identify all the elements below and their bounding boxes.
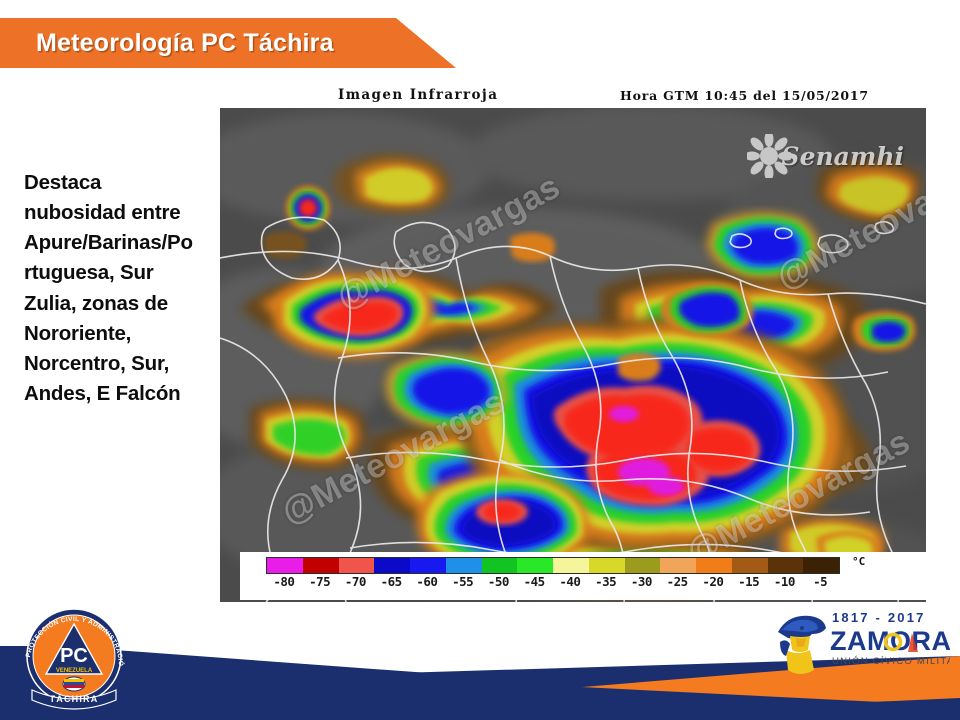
colorbar-segment: [660, 558, 696, 573]
svg-text:PC: PC: [60, 645, 88, 667]
colorbar-segment: [446, 558, 482, 573]
zamora-tagline: UNIÓN CÍVICO MILITAR: [832, 656, 950, 667]
colorbar-tick: -10: [774, 574, 795, 589]
colorbar-tick: -65: [381, 574, 402, 589]
colorbar-tick: -50: [488, 574, 509, 589]
colorbar-segment: [732, 558, 768, 573]
colorbar-tick: -75: [309, 574, 330, 589]
colorbar-segment: [768, 558, 804, 573]
temperature-colorbar: °C -80-75-70-65-60-55-50-45-40-35-30-25-…: [240, 552, 930, 600]
colorbar-tick: -60: [416, 574, 437, 589]
colorbar-tick: -55: [452, 574, 473, 589]
colorbar-tick: -20: [702, 574, 723, 589]
colorbar-segment: [589, 558, 625, 573]
svg-text:VENEZUELA: VENEZUELA: [56, 668, 93, 674]
colorbar-unit: °C: [852, 555, 865, 568]
colorbar-segment: [803, 558, 839, 573]
satellite-captions: Imagen Infrarroja Hora GTM 10:45 del 15/…: [220, 86, 926, 108]
senamhi-logo: Senamhi: [747, 134, 904, 178]
colorbar-segment: [625, 558, 661, 573]
colorbar-tick: -15: [738, 574, 759, 589]
colorbar-segment: [696, 558, 732, 573]
colorbar-segment: [339, 558, 375, 573]
colorbar-segment: [517, 558, 553, 573]
senamhi-label: Senamhi: [782, 142, 904, 171]
colorbar-tick: -70: [345, 574, 366, 589]
colorbar-segment: [374, 558, 410, 573]
header-banner: Meteorología PC Táchira: [0, 18, 456, 68]
colorbar-tick: -45: [524, 574, 545, 589]
colorbar-gradient: [266, 557, 840, 574]
colorbar-segment: [482, 558, 518, 573]
colorbar-tick: -25: [667, 574, 688, 589]
colorbar-segment: [410, 558, 446, 573]
colorbar-tick: -35: [595, 574, 616, 589]
colorbar-segment: [303, 558, 339, 573]
forecast-note: Destaca nubosidad entre Apure/Barinas/Po…: [24, 168, 200, 409]
infrared-satellite-image: [220, 108, 926, 602]
sun-icon: [747, 134, 791, 178]
colorbar-tick: -40: [559, 574, 580, 589]
colorbar-ticks: -80-75-70-65-60-55-50-45-40-35-30-25-20-…: [240, 574, 865, 590]
caption-image-type: Imagen Infrarroja: [338, 87, 498, 103]
zamora-years: 1817 - 2017: [832, 610, 926, 625]
page-title: Meteorología PC Táchira: [36, 29, 334, 58]
zamora-name: ZAMORA: [830, 626, 950, 656]
satellite-image-panel[interactable]: @Meteovargas @Meteovargas @Meteovargas @…: [220, 108, 926, 602]
pc-tachira-emblem: PROTECCIÓN CIVIL Y ADMINISTRACIÓN DE DES…: [14, 604, 134, 712]
zamora-figure-icon: [778, 616, 826, 674]
zamora-logo: 1817 - 2017 ZAMORA UNIÓN CÍVICO MILITAR: [772, 608, 950, 678]
colorbar-tick: -5: [813, 574, 827, 589]
colorbar-tick: -30: [631, 574, 652, 589]
colorbar-tick: -80: [273, 574, 294, 589]
svg-text:TÁCHIRA: TÁCHIRA: [50, 694, 99, 704]
colorbar-segment: [553, 558, 589, 573]
colorbar-segment: [267, 558, 303, 573]
caption-timestamp: Hora GTM 10:45 del 15/05/2017: [620, 88, 869, 103]
